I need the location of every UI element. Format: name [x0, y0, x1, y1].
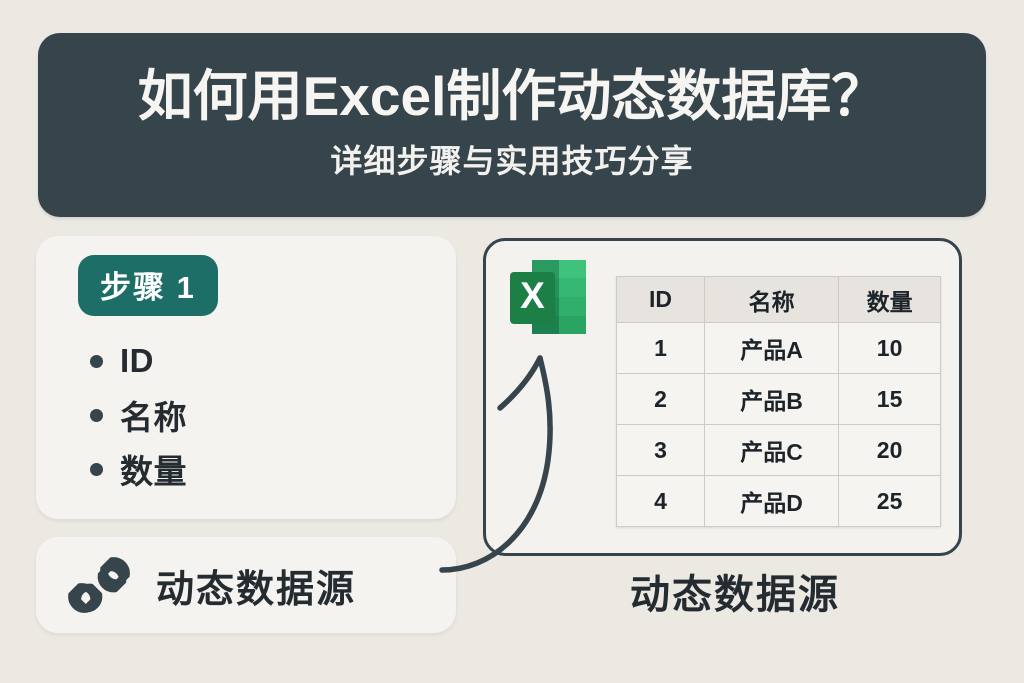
link-chain-icon — [68, 553, 132, 617]
list-item: ID — [90, 334, 187, 388]
column-header-id: ID — [617, 277, 705, 323]
step-badge: 步骤 1 — [78, 255, 218, 316]
cell-id: 4 — [617, 476, 705, 527]
table-row: 2 产品B 15 — [617, 374, 941, 425]
poster-canvas: 如何用Excel制作动态数据库？ 详细步骤与实用技巧分享 步骤 1 ID 名称 … — [0, 0, 1024, 683]
table-header-row: ID 名称 数量 — [617, 277, 941, 323]
cell-name: 产品C — [704, 425, 838, 476]
cell-name: 产品B — [704, 374, 838, 425]
cell-name: 产品A — [704, 323, 838, 374]
cell-name: 产品D — [704, 476, 838, 527]
excel-icon: X — [508, 256, 590, 342]
field-label: ID — [120, 342, 154, 380]
cell-id: 1 — [617, 323, 705, 374]
list-item: 名称 — [90, 388, 187, 442]
product-data-table: ID 名称 数量 1 产品A 10 2 产品B 15 3 产品C — [616, 276, 941, 527]
bullet-icon — [90, 355, 103, 368]
bullet-icon — [90, 409, 103, 422]
step-badge-label: 步骤 1 — [100, 270, 196, 305]
page-subtitle: 详细步骤与实用技巧分享 — [330, 136, 693, 182]
cell-id: 3 — [617, 425, 705, 476]
cell-quantity: 20 — [839, 425, 941, 476]
table-row: 4 产品D 25 — [617, 476, 941, 527]
column-header-quantity: 数量 — [839, 277, 941, 323]
cell-id: 2 — [617, 374, 705, 425]
bullet-icon — [90, 463, 103, 476]
panel-caption: 动态数据源 — [585, 562, 885, 620]
data-panel: X ID 名称 数量 1 产品A 10 2 产品B 15 — [483, 238, 962, 556]
list-item: 数量 — [90, 442, 187, 496]
field-list: ID 名称 数量 — [90, 334, 187, 496]
header-banner: 如何用Excel制作动态数据库？ 详细步骤与实用技巧分享 — [38, 33, 986, 217]
cell-quantity: 15 — [839, 374, 941, 425]
cell-quantity: 25 — [839, 476, 941, 527]
field-label: 名称 — [120, 391, 187, 439]
dynamic-data-source-label: 动态数据源 — [156, 558, 356, 613]
svg-text:X: X — [520, 275, 545, 316]
table-row: 3 产品C 20 — [617, 425, 941, 476]
page-title: 如何用Excel制作动态数据库？ — [138, 68, 887, 126]
cell-quantity: 10 — [839, 323, 941, 374]
step-card: 步骤 1 ID 名称 数量 — [36, 236, 456, 519]
table-row: 1 产品A 10 — [617, 323, 941, 374]
column-header-name: 名称 — [704, 277, 838, 323]
dynamic-data-source-card: 动态数据源 — [36, 537, 456, 633]
field-label: 数量 — [120, 445, 187, 493]
